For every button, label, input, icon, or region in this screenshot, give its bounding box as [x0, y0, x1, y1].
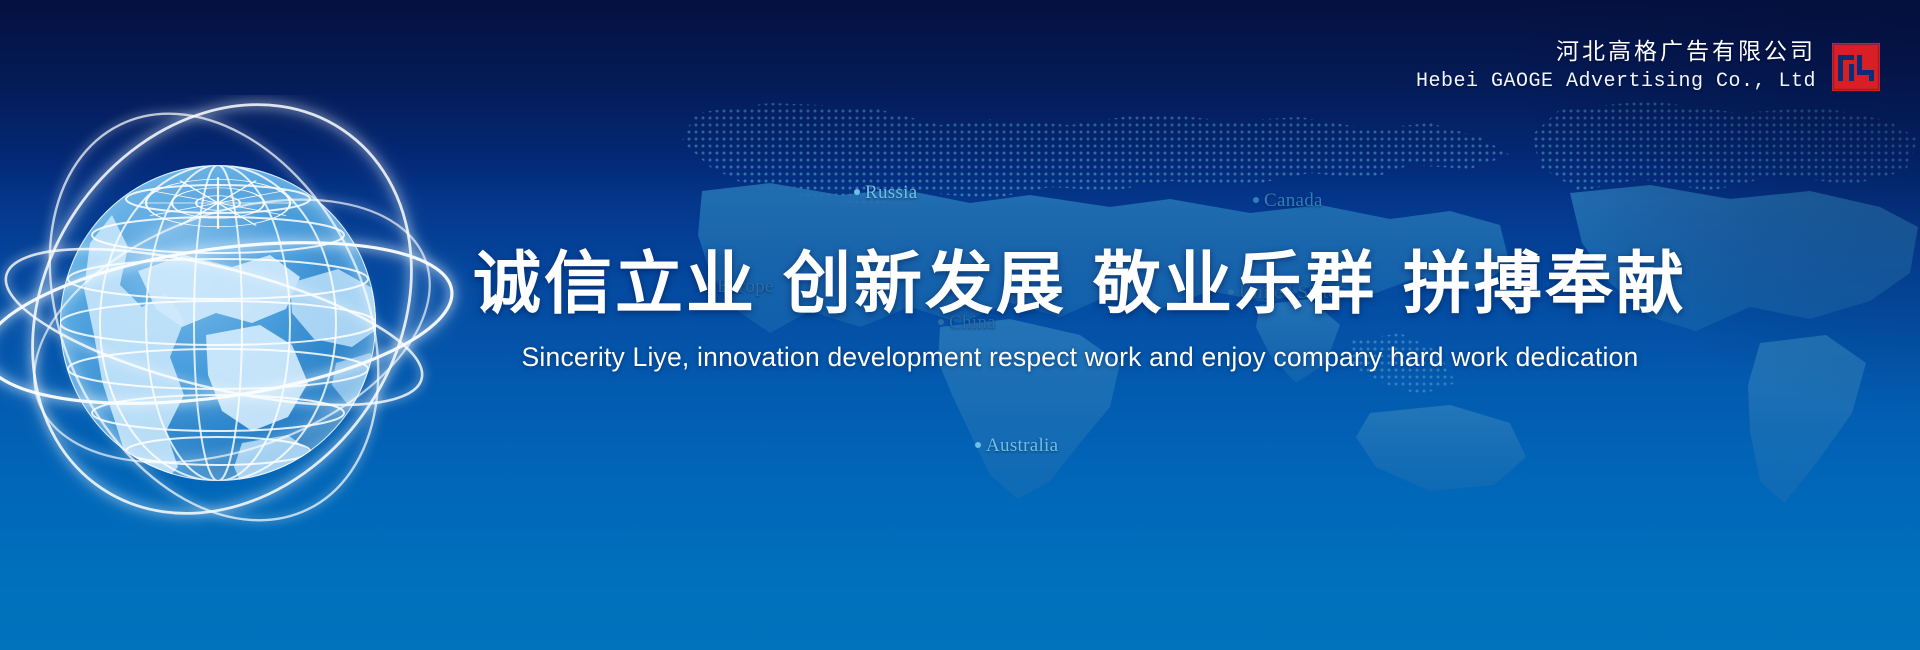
company-name-group: 河北高格广告有限公司 Hebei GAOGE Advertising Co., … — [1416, 36, 1816, 96]
slogan-chinese: 诚信立业创新发展敬业乐群拼搏奉献 — [240, 250, 1920, 318]
map-label-text: Canada — [1264, 190, 1323, 211]
map-label-russia: Russia — [854, 182, 917, 204]
gaoge-logo-icon — [1832, 43, 1880, 91]
company-banner: Russia Canada Europe China United States… — [0, 0, 1920, 650]
map-label-canada: Canada — [1253, 190, 1323, 212]
map-label-text: Russia — [865, 182, 917, 203]
slogan-segment-3: 敬业乐群 — [1093, 246, 1377, 322]
slogan-segment-4: 拼搏奉献 — [1403, 246, 1687, 322]
company-name-cn: 河北高格广告有限公司 — [1416, 36, 1816, 66]
slogan-block: 诚信立业创新发展敬业乐群拼搏奉献 Sincerity Liye, innovat… — [0, 250, 1920, 373]
slogan-segment-2: 创新发展 — [783, 246, 1067, 322]
slogan-english: Sincerity Liye, innovation development r… — [240, 342, 1920, 373]
map-pin-dot-canada — [1253, 197, 1259, 203]
company-name-en: Hebei GAOGE Advertising Co., Ltd — [1416, 69, 1816, 95]
company-identity: 河北高格广告有限公司 Hebei GAOGE Advertising Co., … — [1416, 36, 1880, 96]
map-pin-dot-australia — [975, 442, 981, 448]
slogan-segment-1: 诚信立业 — [473, 246, 757, 322]
map-label-text: Australia — [986, 435, 1058, 456]
map-pin-dot-russia — [854, 189, 860, 195]
map-label-australia: Australia — [975, 435, 1058, 457]
